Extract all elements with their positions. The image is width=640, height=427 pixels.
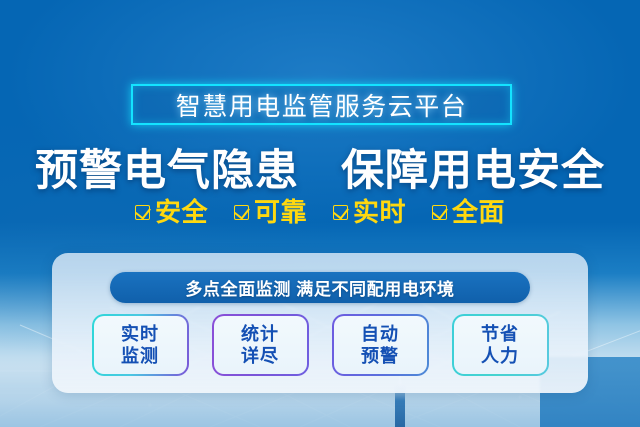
- poster-canvas: 智慧用电监管服务云平台 预警电气隐患 保障用电安全 安全 可靠 实时 全面 多点…: [0, 0, 640, 427]
- headline-part-1: 预警电气隐患: [35, 147, 299, 195]
- capability-label-line1: 实时: [121, 324, 159, 344]
- checkbox-checked-icon: [333, 205, 348, 220]
- feature-label: 实时: [353, 199, 406, 225]
- capability-box-inner: 实时 监测: [94, 316, 187, 374]
- feature-label: 可靠: [254, 199, 307, 225]
- capability-label-line1: 节省: [481, 324, 519, 344]
- feature-item-safety: 安全: [135, 199, 208, 225]
- capability-label-line2: 详尽: [241, 346, 279, 366]
- checkbox-checked-icon: [432, 205, 447, 220]
- feature-item-comprehensive: 全面: [432, 199, 505, 225]
- capability-box-realtime-monitoring[interactable]: 实时 监测: [92, 314, 189, 376]
- feature-label: 安全: [155, 199, 208, 225]
- title-banner-text: 智慧用电监管服务云平台: [176, 87, 468, 123]
- feature-item-realtime: 实时: [333, 199, 406, 225]
- checkbox-checked-icon: [234, 205, 249, 220]
- feature-item-reliable: 可靠: [234, 199, 307, 225]
- headline-part-2: 保障用电安全: [341, 147, 605, 195]
- capability-box-detailed-statistics[interactable]: 统计 详尽: [212, 314, 309, 376]
- capability-label-line2: 人力: [481, 346, 519, 366]
- title-banner: 智慧用电监管服务云平台: [131, 84, 512, 125]
- feature-checklist: 安全 可靠 实时 全面: [0, 199, 640, 225]
- feature-label: 全面: [452, 199, 505, 225]
- capability-box-inner: 自动 预警: [334, 316, 427, 374]
- card-header-pill: 多点全面监测 满足不同配用电环境: [110, 272, 530, 303]
- capability-label-line1: 统计: [241, 324, 279, 344]
- capability-box-group: 实时 监测 统计 详尽 自动 预警 节省 人力: [52, 314, 588, 376]
- capability-box-save-manpower[interactable]: 节省 人力: [452, 314, 549, 376]
- capability-label-line2: 预警: [361, 346, 399, 366]
- card-header-text: 多点全面监测 满足不同配用电环境: [185, 275, 454, 300]
- capability-label-line1: 自动: [361, 324, 399, 344]
- capability-box-inner: 统计 详尽: [214, 316, 307, 374]
- page-title: 预警电气隐患 保障用电安全: [0, 136, 640, 198]
- capability-box-auto-alarm[interactable]: 自动 预警: [332, 314, 429, 376]
- capability-box-inner: 节省 人力: [454, 316, 547, 374]
- monitoring-card: 多点全面监测 满足不同配用电环境 实时 监测 统计 详尽 自动 预警: [52, 253, 588, 393]
- capability-label-line2: 监测: [121, 346, 159, 366]
- checkbox-checked-icon: [135, 205, 150, 220]
